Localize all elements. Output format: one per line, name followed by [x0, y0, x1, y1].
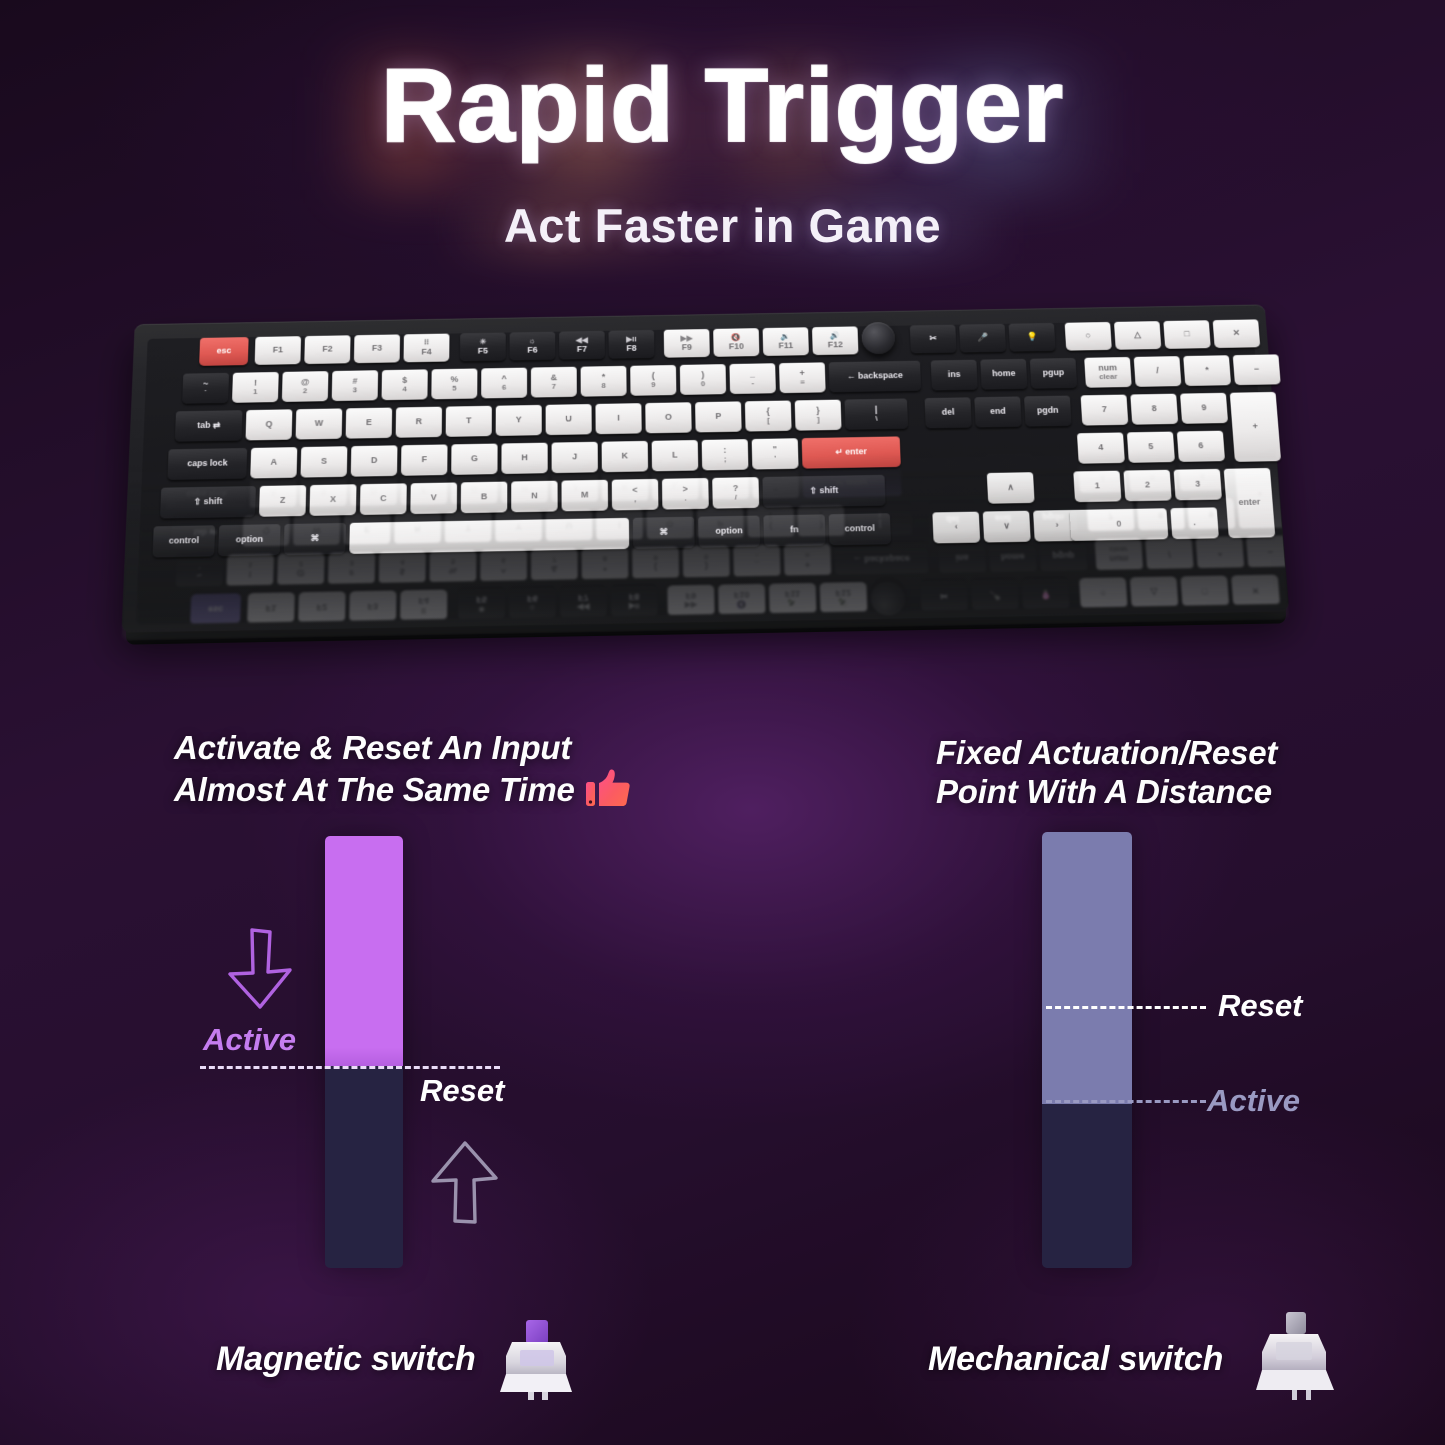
keycap-f6[interactable]: ☼F6	[510, 332, 556, 361]
keycap-[interactable]: +=	[779, 362, 826, 393]
keycap-4[interactable]: 4	[1077, 432, 1125, 463]
keycap-0[interactable]: 0	[1070, 508, 1169, 541]
keycap-[interactable]: _-	[729, 363, 776, 394]
keycap-u[interactable]: U	[546, 404, 592, 435]
keycap-fn[interactable]: fn	[763, 514, 825, 546]
keycap-[interactable]: "'	[752, 438, 799, 469]
keycap-i[interactable]: I	[595, 403, 641, 434]
page-subtitle: Act Faster in Game	[0, 198, 1445, 253]
keycap-[interactable]: !1	[232, 372, 279, 403]
keycap-[interactable]: ∨	[983, 511, 1031, 543]
keycap-control[interactable]: control	[829, 513, 891, 545]
keycap-v[interactable]: V	[410, 482, 457, 514]
keycap-c[interactable]: C	[360, 483, 407, 515]
keycap-[interactable]: @2	[282, 371, 329, 402]
magnetic-active-label: Active	[203, 1022, 296, 1058]
keycap-2[interactable]: 2	[1123, 470, 1171, 502]
keycap-r[interactable]: R	[396, 407, 442, 438]
keycap-e[interactable]: E	[346, 408, 393, 439]
keycap-8[interactable]: 8	[1130, 394, 1178, 425]
keycap-[interactable]: □	[1163, 320, 1211, 349]
keycap-[interactable]: ⌘	[633, 517, 695, 549]
keycap-[interactable]: 💡	[1009, 323, 1056, 352]
keycap-[interactable]: 🎤	[959, 324, 1006, 353]
keycap-f12[interactable]: 🔊F12	[812, 326, 859, 355]
keycap-end[interactable]: end	[974, 396, 1021, 427]
magnetic-bar-active-segment	[325, 836, 403, 1066]
keycap-[interactable]: ∧	[987, 472, 1035, 504]
keycap-[interactable]: )0	[680, 364, 726, 395]
keycap-f[interactable]: F	[401, 444, 448, 475]
keycap-f7[interactable]: ◀◀F7	[559, 331, 605, 360]
keycap-f5[interactable]: ☀F5	[460, 333, 506, 362]
keyboard-body: escF1F2F3⠿F4☀F5☼F6◀◀F7▶IIF8▶▶F9🔇F10🔉F11🔊…	[121, 304, 1289, 632]
keycap-[interactable]: ⌘	[284, 523, 346, 555]
keycap-h[interactable]: H	[501, 443, 547, 474]
keycap-q[interactable]: Q	[245, 409, 292, 440]
keycap-g[interactable]: G	[451, 444, 497, 475]
keycap-[interactable]: *	[1183, 355, 1231, 386]
keycap-[interactable]: ?/	[712, 477, 759, 509]
keycap-option[interactable]: option	[218, 524, 280, 556]
right-heading-line2: Point With A Distance	[936, 773, 1272, 810]
keycap-x[interactable]: X	[309, 484, 356, 516]
keycap-option[interactable]: option	[698, 516, 760, 548]
keycap-n[interactable]: N	[511, 481, 557, 513]
keycap-enter[interactable]: enter	[1224, 468, 1276, 538]
keycap-[interactable]: $4	[382, 369, 428, 400]
magnetic-switch-caption: Magnetic switch	[216, 1340, 476, 1379]
mechanical-switch-caption-text: Mechanical switch	[928, 1340, 1223, 1378]
mechanical-reset-dashed-line	[1046, 1006, 1206, 1009]
keycap-[interactable]: *8	[581, 366, 627, 397]
magnetic-switch-caption-text: Magnetic switch	[216, 1340, 476, 1378]
keycap-[interactable]: /	[1134, 356, 1182, 387]
mechanical-bar-filled-segment	[1042, 832, 1132, 1104]
keycap-o[interactable]: O	[645, 402, 691, 433]
keycap-[interactable]: +	[1230, 392, 1281, 462]
keycap-m[interactable]: M	[562, 480, 609, 512]
left-panel-heading: Activate & Reset An Input Almost At The …	[174, 729, 631, 816]
mechanical-reset-label: Reset	[1218, 988, 1302, 1024]
keycap-5[interactable]: 5	[1127, 432, 1175, 463]
keycap-control[interactable]: control	[152, 525, 215, 557]
keycap-a[interactable]: A	[250, 447, 297, 478]
keycap-[interactable]: ‹	[932, 512, 980, 544]
keycap-[interactable]: %5	[431, 368, 477, 399]
keycap-w[interactable]: W	[296, 408, 343, 439]
keycap-l[interactable]: L	[652, 440, 699, 471]
keycap-f8[interactable]: ▶IIF8	[609, 330, 655, 359]
mechanical-switch-caption: Mechanical switch	[928, 1340, 1223, 1379]
keycap-p[interactable]: P	[695, 401, 742, 432]
keycap-[interactable]: (9	[630, 365, 676, 396]
keycap-pgdn[interactable]: pgdn	[1024, 396, 1072, 427]
left-heading-line1: Activate & Reset An Input	[174, 729, 571, 766]
keycap-9[interactable]: 9	[1180, 393, 1228, 424]
mechanical-bar-empty-segment	[1042, 1104, 1132, 1268]
keycap-f11[interactable]: 🔉F11	[763, 327, 809, 356]
keycap-k[interactable]: K	[602, 441, 648, 472]
keycap-tab[interactable]: tab ⇄	[175, 410, 243, 441]
magnetic-threshold-dashed-line	[200, 1066, 500, 1069]
keycap-j[interactable]: J	[552, 442, 598, 473]
keycap-[interactable]: ~`	[182, 373, 229, 404]
magnetic-bar-reset-segment	[325, 1066, 403, 1268]
keycap-backspace[interactable]: ← backspace	[829, 361, 922, 393]
keycap-caps-lock[interactable]: caps lock	[167, 448, 247, 480]
keycap-d[interactable]: D	[351, 445, 398, 476]
right-heading-line1: Fixed Actuation/Reset	[936, 734, 1277, 771]
keycap-[interactable]: △	[1114, 321, 1161, 350]
keycap-[interactable]: ✂	[910, 325, 957, 354]
keycap-[interactable]: −	[1233, 354, 1281, 385]
keycap-pgup[interactable]: pgup	[1030, 358, 1077, 389]
left-heading-line2: Almost At The Same Time	[174, 771, 575, 808]
magnetic-switch-travel-bar	[325, 836, 403, 1268]
keycap-1[interactable]: 1	[1073, 471, 1121, 503]
keycap-[interactable]: >.	[662, 478, 709, 510]
keycap-[interactable]: ○	[1065, 322, 1112, 351]
keycap-[interactable]: :;	[702, 439, 749, 470]
keycap-[interactable]: <,	[612, 479, 659, 511]
keycap-del[interactable]: del	[924, 397, 971, 428]
keycap-esc[interactable]: esc	[199, 337, 249, 366]
keycap-7[interactable]: 7	[1081, 395, 1129, 426]
keycap-b[interactable]: B	[461, 482, 508, 514]
keycap-[interactable]: }]	[795, 400, 842, 431]
keycap-[interactable]: &7	[531, 367, 577, 398]
magnetic-reset-label: Reset	[420, 1073, 504, 1109]
keycap-s[interactable]: S	[300, 446, 347, 477]
keycap-enter[interactable]: ↵ enter	[802, 436, 901, 468]
keycap-f2[interactable]: F2	[304, 335, 350, 364]
down-arrow-icon	[222, 928, 300, 1015]
keycap-z[interactable]: Z	[259, 485, 306, 517]
mechanical-switch-travel-bar	[1042, 832, 1132, 1268]
keycap-[interactable]: #3	[332, 370, 378, 401]
keycap-ins[interactable]: ins	[931, 360, 978, 391]
keycap-[interactable]: ^6	[481, 368, 527, 399]
mechanical-active-dashed-line	[1046, 1100, 1206, 1103]
mechanical-switch-icon	[1248, 1310, 1340, 1407]
keycap-[interactable]: |\	[844, 398, 908, 429]
keycap-num[interactable]: numclear	[1084, 357, 1132, 388]
keycap-f3[interactable]: F3	[354, 334, 400, 363]
keycap-[interactable]: ✕	[1213, 319, 1261, 348]
keycap-f4[interactable]: ⠿F4	[404, 334, 450, 363]
keycap-3[interactable]: 3	[1174, 469, 1222, 501]
mechanical-active-label: Active	[1207, 1083, 1300, 1119]
up-arrow-icon	[424, 1140, 506, 1231]
keyboard-image: escF1F2F3⠿F4☀F5☼F6◀◀F7▶IIF8▶▶F9🔇F10🔉F11🔊…	[112, 292, 1302, 712]
keycap-space[interactable]	[349, 518, 629, 554]
keycap-f1[interactable]: F1	[255, 336, 301, 365]
keycap-shift[interactable]: ⇧ shift	[160, 486, 256, 519]
keycap-layer: escF1F2F3⠿F4☀F5☼F6◀◀F7▶IIF8▶▶F9🔇F10🔉F11🔊…	[135, 304, 1265, 324]
keycap-t[interactable]: T	[446, 406, 492, 437]
keycap-[interactable]: {[	[745, 401, 792, 432]
keycap-[interactable]: .	[1170, 507, 1219, 539]
thumbs-up-icon	[585, 768, 631, 817]
right-panel-heading: Fixed Actuation/Reset Point With A Dista…	[936, 734, 1277, 811]
magnetic-switch-icon	[490, 1316, 582, 1407]
product-infographic: Rapid Trigger Act Faster in Game escF1F2…	[0, 0, 1445, 1445]
keycap-home[interactable]: home	[980, 359, 1027, 390]
keycap-y[interactable]: Y	[496, 405, 542, 436]
keycap-shift[interactable]: ⇧ shift	[762, 475, 885, 508]
keycap-f9[interactable]: ▶▶F9	[664, 329, 710, 358]
keycap-f10[interactable]: 🔇F10	[713, 328, 759, 357]
keycap-6[interactable]: 6	[1177, 431, 1225, 462]
page-title: Rapid Trigger	[0, 52, 1445, 161]
